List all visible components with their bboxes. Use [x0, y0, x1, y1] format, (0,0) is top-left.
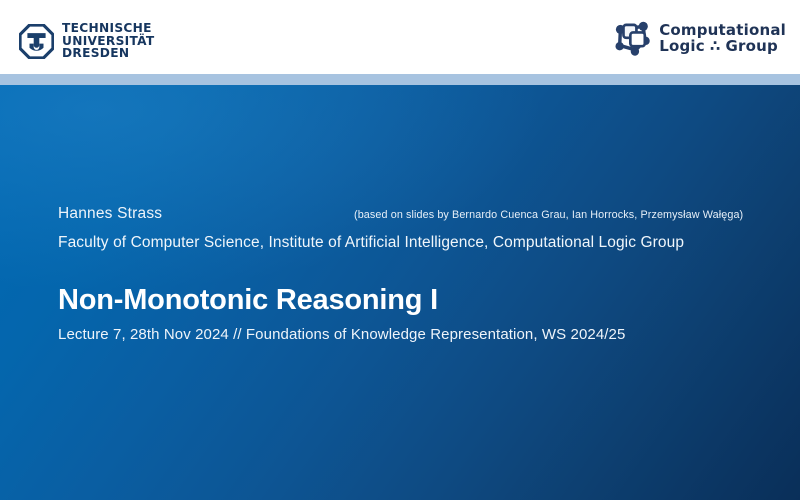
author-name: Hannes Strass: [58, 205, 162, 223]
tud-line-3: DRESDEN: [62, 47, 155, 60]
affiliation: Faculty of Computer Science, Institute o…: [58, 234, 778, 252]
header-accent-strip: [0, 74, 800, 85]
tud-line-1: TECHNISCHE: [62, 22, 155, 35]
tu-dresden-wordmark: TECHNISCHE UNIVERSITÄT DRESDEN: [62, 22, 155, 60]
author-row: Hannes Strass (based on slides by Bernar…: [58, 205, 778, 229]
clg-line-1: Computational: [659, 22, 786, 38]
clg-line-2: Logic ∴ Group: [659, 38, 786, 54]
slide-header: TECHNISCHE UNIVERSITÄT DRESDEN: [0, 0, 800, 74]
clg-word-logic: Logic: [659, 38, 705, 54]
slide-credit: (based on slides by Bernardo Cuenca Grau…: [354, 209, 743, 221]
tu-dresden-octagon-mark: [19, 24, 54, 59]
tu-dresden-logo: TECHNISCHE UNIVERSITÄT DRESDEN: [19, 22, 155, 60]
clg-word-group: Group: [725, 38, 777, 54]
therefore-icon: ∴: [710, 38, 721, 54]
presentation-slide: TECHNISCHE UNIVERSITÄT DRESDEN: [0, 0, 800, 500]
lecture-info: Lecture 7, 28th Nov 2024 // Foundations …: [58, 326, 778, 343]
title-block: Hannes Strass (based on slides by Bernar…: [58, 205, 778, 343]
page-title: Non-Monotonic Reasoning I: [58, 284, 778, 317]
clg-wordmark: Computational Logic ∴ Group: [659, 22, 786, 54]
computational-logic-graph-mark: [612, 18, 654, 58]
computational-logic-group-logo: Computational Logic ∴ Group: [612, 18, 786, 58]
